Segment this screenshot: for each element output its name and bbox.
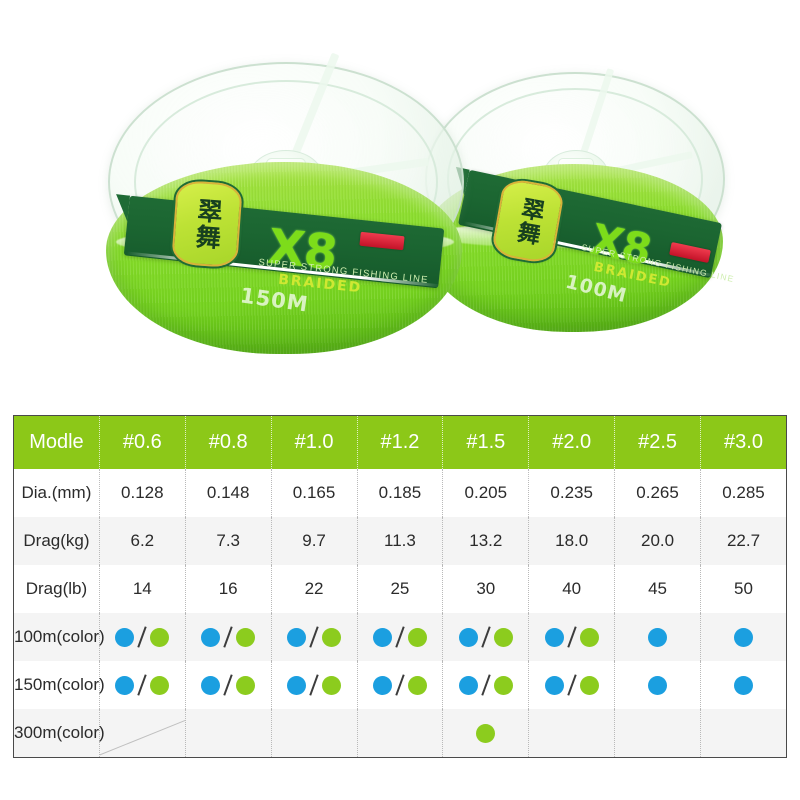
color-dot-group — [358, 709, 443, 757]
diagonal-strike — [100, 709, 185, 757]
blue-color-dot-icon — [287, 628, 306, 647]
slash-separator-icon — [136, 674, 148, 696]
table-row-150m-color: 150m(color) — [14, 661, 787, 709]
cell-drag-lb-0: 14 — [99, 565, 185, 613]
cell-300m-2 — [271, 709, 357, 758]
cell-drag-kg-7: 22.7 — [701, 517, 787, 565]
slash-separator-icon — [566, 674, 578, 696]
specification-table: Modle #0.6 #0.8 #1.0 #1.2 #1.5 #2.0 #2.5… — [13, 415, 787, 758]
color-dot-group — [272, 661, 357, 709]
header-cell-1-0: #1.0 — [271, 416, 357, 470]
header-cell-0-6: #0.6 — [99, 416, 185, 470]
row-label-150m: 150m(color) — [14, 661, 100, 709]
cell-150m-0 — [99, 661, 185, 709]
cell-drag-lb-4: 30 — [443, 565, 529, 613]
blue-color-dot-icon — [734, 628, 753, 647]
green-color-dot-icon — [150, 628, 169, 647]
cell-dia-3: 0.185 — [357, 469, 443, 517]
color-dot-group — [615, 613, 700, 661]
blue-color-dot-icon — [545, 628, 564, 647]
green-color-dot-icon — [408, 628, 427, 647]
green-color-dot-icon — [408, 676, 427, 695]
green-color-dot-icon — [476, 724, 495, 743]
cell-dia-1: 0.148 — [185, 469, 271, 517]
table-row-drag-lb: Drag(lb) 14 16 22 25 30 40 45 50 — [14, 565, 787, 613]
color-dot-group — [615, 709, 700, 757]
blue-color-dot-icon — [545, 676, 564, 695]
blue-color-dot-icon — [373, 628, 392, 647]
cell-100m-7 — [701, 613, 787, 661]
color-dot-group — [186, 613, 271, 661]
blue-color-dot-icon — [373, 676, 392, 695]
color-dot-group — [443, 613, 528, 661]
cell-dia-4: 0.205 — [443, 469, 529, 517]
cell-300m-5 — [529, 709, 615, 758]
green-color-dot-icon — [322, 676, 341, 695]
spool-right: 翠舞 X8 SUPER STRONG FISHING LINE BRAIDED … — [425, 72, 725, 362]
cell-300m-6 — [615, 709, 701, 758]
color-dot-group — [615, 661, 700, 709]
blue-color-dot-icon — [734, 676, 753, 695]
green-color-dot-icon — [236, 628, 255, 647]
color-dot-group — [358, 613, 443, 661]
cell-dia-2: 0.165 — [271, 469, 357, 517]
cell-300m-7 — [701, 709, 787, 758]
blue-color-dot-icon — [201, 628, 220, 647]
green-color-dot-icon — [236, 676, 255, 695]
cell-drag-kg-1: 7.3 — [185, 517, 271, 565]
color-dot-group — [701, 613, 786, 661]
cell-dia-7: 0.285 — [701, 469, 787, 517]
product-photo: 翠舞 X8 SUPER STRONG FISHING LINE BRAIDED … — [0, 0, 800, 405]
cell-100m-5 — [529, 613, 615, 661]
header-cell-1-5: #1.5 — [443, 416, 529, 470]
slash-separator-icon — [308, 674, 320, 696]
table-header-row: Modle #0.6 #0.8 #1.0 #1.2 #1.5 #2.0 #2.5… — [14, 416, 787, 470]
brand-cartouche-left: 翠舞 — [171, 180, 243, 268]
blue-color-dot-icon — [459, 628, 478, 647]
color-dot-group — [100, 613, 185, 661]
brand-name-cn-left: 翠舞 — [193, 197, 221, 251]
green-color-dot-icon — [580, 628, 599, 647]
cell-100m-1 — [185, 613, 271, 661]
blue-color-dot-icon — [115, 676, 134, 695]
color-dot-group — [100, 661, 185, 709]
color-dot-group — [358, 661, 443, 709]
color-dot-group — [272, 613, 357, 661]
cell-100m-2 — [271, 613, 357, 661]
cell-drag-kg-6: 20.0 — [615, 517, 701, 565]
cell-drag-kg-2: 9.7 — [271, 517, 357, 565]
row-label-100m: 100m(color) — [14, 613, 100, 661]
green-color-dot-icon — [494, 676, 513, 695]
slash-separator-icon — [222, 626, 234, 648]
color-dot-group — [529, 613, 614, 661]
table-header: Modle #0.6 #0.8 #1.0 #1.2 #1.5 #2.0 #2.5… — [14, 416, 787, 470]
table-row-100m-color: 100m(color) — [14, 613, 787, 661]
header-cell-3-0: #3.0 — [701, 416, 787, 470]
cell-drag-lb-5: 40 — [529, 565, 615, 613]
cell-300m-3 — [357, 709, 443, 758]
header-cell-modle: Modle — [14, 416, 100, 470]
cell-150m-1 — [185, 661, 271, 709]
slash-separator-icon — [136, 626, 148, 648]
cell-150m-5 — [529, 661, 615, 709]
color-dot-group — [272, 709, 357, 757]
green-color-dot-icon — [580, 676, 599, 695]
table-row-dia: Dia.(mm) 0.128 0.148 0.165 0.185 0.205 0… — [14, 469, 787, 517]
blue-color-dot-icon — [648, 676, 667, 695]
brand-name-cn-right: 翠舞 — [513, 195, 544, 246]
cell-dia-5: 0.235 — [529, 469, 615, 517]
green-color-dot-icon — [150, 676, 169, 695]
cell-drag-lb-1: 16 — [185, 565, 271, 613]
cell-300m-0 — [99, 709, 185, 758]
table-row-drag-kg: Drag(kg) 6.2 7.3 9.7 11.3 13.2 18.0 20.0… — [14, 517, 787, 565]
cell-100m-6 — [615, 613, 701, 661]
color-dot-group — [443, 709, 528, 757]
cell-drag-lb-6: 45 — [615, 565, 701, 613]
green-color-dot-icon — [322, 628, 341, 647]
color-dot-group — [186, 709, 271, 757]
cell-300m-4 — [443, 709, 529, 758]
cell-drag-lb-2: 22 — [271, 565, 357, 613]
cell-drag-kg-0: 6.2 — [99, 517, 185, 565]
slash-separator-icon — [566, 626, 578, 648]
row-label-drag-lb: Drag(lb) — [14, 565, 100, 613]
blue-color-dot-icon — [201, 676, 220, 695]
table-body: Dia.(mm) 0.128 0.148 0.165 0.185 0.205 0… — [14, 469, 787, 758]
green-color-dot-icon — [494, 628, 513, 647]
slash-separator-icon — [222, 674, 234, 696]
color-dot-group — [443, 661, 528, 709]
cell-drag-kg-5: 18.0 — [529, 517, 615, 565]
slash-separator-icon — [308, 626, 320, 648]
blue-color-dot-icon — [459, 676, 478, 695]
header-cell-0-8: #0.8 — [185, 416, 271, 470]
color-dot-group — [186, 661, 271, 709]
cell-100m-4 — [443, 613, 529, 661]
cell-dia-0: 0.128 — [99, 469, 185, 517]
cell-150m-2 — [271, 661, 357, 709]
row-label-dia: Dia.(mm) — [14, 469, 100, 517]
cell-drag-lb-3: 25 — [357, 565, 443, 613]
header-cell-2-0: #2.0 — [529, 416, 615, 470]
row-label-300m: 300m(color) — [14, 709, 100, 758]
cell-150m-4 — [443, 661, 529, 709]
cell-150m-7 — [701, 661, 787, 709]
cell-100m-3 — [357, 613, 443, 661]
spec-table-container: Modle #0.6 #0.8 #1.0 #1.2 #1.5 #2.0 #2.5… — [13, 415, 787, 758]
cell-dia-6: 0.265 — [615, 469, 701, 517]
blue-color-dot-icon — [287, 676, 306, 695]
color-dot-group — [701, 661, 786, 709]
color-dot-group — [529, 709, 614, 757]
cell-300m-1 — [185, 709, 271, 758]
cell-150m-6 — [615, 661, 701, 709]
cell-drag-kg-3: 11.3 — [357, 517, 443, 565]
blue-color-dot-icon — [115, 628, 134, 647]
color-dot-group — [529, 661, 614, 709]
cell-drag-lb-7: 50 — [701, 565, 787, 613]
color-dot-group — [701, 709, 786, 757]
slash-separator-icon — [394, 626, 406, 648]
slash-separator-icon — [480, 674, 492, 696]
header-cell-1-2: #1.2 — [357, 416, 443, 470]
cell-100m-0 — [99, 613, 185, 661]
table-row-300m-color: 300m(color) — [14, 709, 787, 758]
row-label-drag-kg: Drag(kg) — [14, 517, 100, 565]
slash-separator-icon — [394, 674, 406, 696]
cell-drag-kg-4: 13.2 — [443, 517, 529, 565]
header-cell-2-5: #2.5 — [615, 416, 701, 470]
slash-separator-icon — [480, 626, 492, 648]
blue-color-dot-icon — [648, 628, 667, 647]
spool-left: 翠舞 X8 SUPER STRONG FISHING LINE BRAIDED … — [108, 62, 464, 380]
cell-150m-3 — [357, 661, 443, 709]
